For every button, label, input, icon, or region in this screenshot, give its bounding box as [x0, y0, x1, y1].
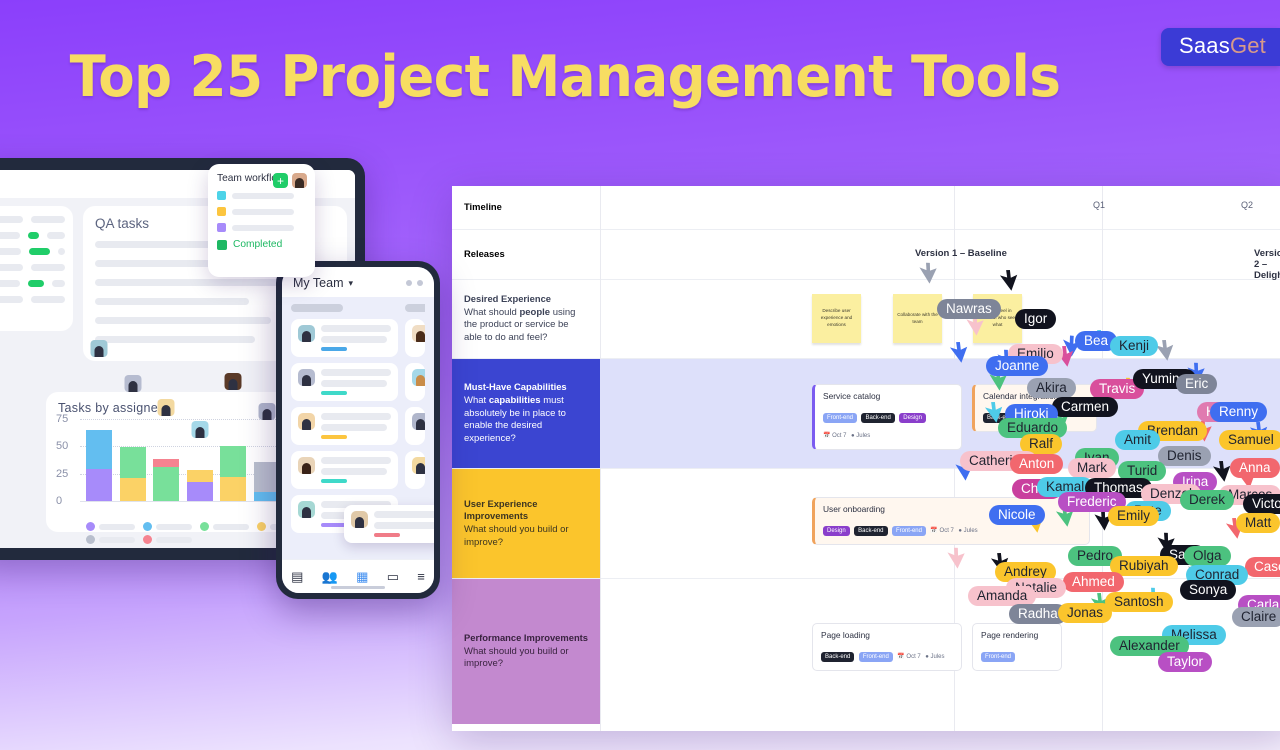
y-axis-tick: 75	[56, 413, 68, 425]
avatar	[351, 511, 368, 528]
member-progress	[374, 533, 400, 537]
y-axis-tick: 50	[56, 440, 68, 452]
task-meta: Design Back-end Front-end 📅 Oct 7 ● Jule…	[823, 519, 1081, 537]
completed-label: Completed	[233, 239, 282, 250]
legend-label	[99, 537, 135, 543]
avatar	[298, 501, 315, 518]
team-member-card[interactable]	[291, 363, 398, 401]
bar-segment	[187, 470, 213, 482]
avatar	[298, 413, 315, 430]
team-member-card[interactable]	[405, 407, 425, 445]
left-list-card	[0, 206, 73, 331]
member-sub-placeholder	[321, 380, 387, 387]
task-meta: Front-end	[981, 645, 1053, 663]
task-assignee[interactable]: ● Jules	[958, 528, 977, 534]
member-progress	[321, 347, 347, 351]
member-sub-placeholder	[321, 468, 387, 475]
team-overlay-card[interactable]	[344, 505, 434, 549]
task-tag[interactable]: Front-end	[823, 413, 857, 423]
team-member-card[interactable]	[291, 319, 398, 357]
my-team-title: My Team	[293, 276, 343, 290]
bar-column[interactable]	[153, 459, 179, 501]
bar-segment	[86, 430, 112, 469]
avatar	[158, 399, 175, 416]
legend-label	[213, 524, 249, 530]
board-row-user-experience-improvements: User Experience Improvements What should…	[452, 469, 1280, 579]
avatar	[412, 413, 425, 430]
legend-item[interactable]	[86, 535, 135, 544]
workflow-row[interactable]	[217, 207, 306, 216]
row-label-timeline: Timeline	[464, 201, 502, 214]
workflow-swatch	[217, 191, 226, 200]
member-name-placeholder	[374, 511, 434, 518]
task-due-date: 📅 Oct 7	[897, 653, 920, 660]
y-axis-tick: 25	[56, 468, 68, 480]
row-question-desired-experience: What should people using the product or …	[464, 307, 588, 345]
board-row-timeline: Timeline Q1 Q2	[452, 186, 1280, 230]
board-row-releases: Releases Version 1 – Baseline Version 2 …	[452, 230, 1280, 280]
team-member-card[interactable]	[405, 363, 425, 401]
task-tag[interactable]: Front-end	[859, 652, 893, 662]
bar-segment	[153, 467, 179, 501]
avatar	[412, 325, 425, 342]
folder-icon[interactable]: ▭	[387, 569, 399, 585]
avatar	[225, 373, 242, 390]
workflow-completed-row[interactable]: Completed	[217, 239, 306, 250]
workflow-placeholder	[232, 193, 294, 199]
board-row-performance-improvements: Performance Improvements What should you…	[452, 579, 1280, 724]
member-name-placeholder	[321, 457, 391, 464]
inbox-icon[interactable]: ▤	[291, 569, 303, 585]
legend-label	[156, 524, 192, 530]
board-row-must-have-capabilities: Must-Have Capabilities What capabilities…	[452, 359, 1280, 469]
menu-icon[interactable]: ≡	[417, 569, 425, 584]
bar-column[interactable]	[220, 446, 246, 501]
task-assignee[interactable]: ● Jules	[925, 654, 944, 660]
legend-swatch	[143, 535, 152, 544]
bar-segment	[120, 447, 146, 478]
legend-item[interactable]	[143, 535, 192, 544]
task-card[interactable]: Page loading Back-end Front-end 📅 Oct 7 …	[812, 623, 962, 671]
task-meta: Front-end Back-end Design 📅 Oct 7 ● Jule…	[823, 406, 953, 442]
legend-swatch	[257, 522, 266, 531]
legend-swatch	[86, 522, 95, 531]
team-member-card[interactable]	[291, 407, 398, 445]
brand-logo[interactable]: SaasGet	[1161, 28, 1280, 66]
plus-icon[interactable]: +	[273, 173, 288, 188]
avatar	[298, 325, 315, 342]
task-due-date: 📅 Oct 7	[1021, 414, 1044, 421]
team-member-card[interactable]	[344, 505, 434, 543]
avatar	[298, 457, 315, 474]
legend-swatch	[86, 535, 95, 544]
task-tag[interactable]: Front-end	[981, 652, 1015, 662]
brand-name-primary: Saas	[1179, 33, 1230, 58]
people-icon[interactable]: 👥	[322, 569, 338, 585]
avatar	[298, 369, 315, 386]
completed-swatch	[217, 240, 227, 250]
task-tag[interactable]: Design	[823, 526, 850, 536]
member-progress	[321, 479, 347, 483]
team-member-card[interactable]	[405, 319, 425, 357]
legend-label	[99, 524, 135, 530]
avatar	[412, 369, 425, 386]
home-indicator	[331, 586, 385, 589]
avatar	[258, 403, 275, 420]
legend-swatch	[143, 522, 152, 531]
chevron-down-icon[interactable]: ▾	[348, 278, 353, 289]
member-progress	[321, 391, 347, 395]
quarter-label-q2: Q2	[1241, 200, 1253, 210]
avatar	[191, 421, 208, 438]
team-list-left	[291, 319, 398, 533]
window-dot	[417, 280, 423, 286]
phone-mockup: My Team ▾ ▤👥▦▭≡	[276, 261, 440, 599]
member-progress	[321, 435, 347, 439]
avatar	[91, 340, 108, 357]
quarter-label-q1: Q1	[1093, 200, 1105, 210]
phone-screen: My Team ▾ ▤👥▦▭≡	[282, 267, 434, 593]
task-tag[interactable]: Back-end	[861, 413, 894, 423]
task-due-date: 📅 Oct 7	[930, 527, 953, 534]
task-tag[interactable]: Back-end	[854, 526, 887, 536]
release-label-v1: Version 1 – Baseline	[915, 248, 1007, 259]
member-name-placeholder	[321, 413, 391, 420]
task-title: Calendar integration	[983, 391, 1088, 401]
member-sub-placeholder	[374, 522, 434, 529]
sticky-note[interactable]: Collaborate with the team	[893, 294, 942, 343]
y-axis-tick: 0	[56, 495, 62, 507]
workflow-swatch	[217, 207, 226, 216]
row-title-user-experience-improvements: User Experience Improvements	[464, 498, 588, 523]
row-question-user-experience-improvements: What should you build or improve?	[464, 524, 588, 550]
task-card[interactable]: Service catalog Front-end Back-end Desig…	[812, 384, 962, 450]
bar-segment	[220, 477, 246, 501]
skeleton-rows	[0, 216, 65, 303]
board-row-desired-experience: Desired Experience What should people us…	[452, 280, 1280, 359]
task-tag[interactable]: Back-end	[983, 413, 1016, 423]
sticky-note[interactable]: Describe user experience and emotions	[812, 294, 861, 343]
release-label-v2: Version 2 – Delight	[1254, 248, 1280, 281]
avatar	[412, 457, 425, 474]
task-title: User onboarding	[823, 504, 1081, 514]
brand-name-accent: Get	[1230, 33, 1266, 58]
bar-segment	[220, 446, 246, 477]
bar-column[interactable]	[86, 430, 112, 501]
workflow-placeholder	[232, 225, 294, 231]
row-label-releases: Releases	[464, 248, 505, 261]
member-sub-placeholder	[321, 336, 387, 343]
task-title: Page rendering	[981, 630, 1053, 640]
task-meta: Back-end 📅 Oct 7	[983, 406, 1088, 424]
row-question-must-have-capabilities: What capabilities must absolutely be in …	[464, 395, 588, 446]
bar-segment	[153, 459, 179, 467]
bar-segment	[86, 469, 112, 501]
sticky-note[interactable]: Always feel in control of who sees what	[973, 294, 1022, 343]
task-tag[interactable]: Design	[899, 413, 926, 423]
workflow-row[interactable]	[217, 223, 306, 232]
task-title: Service catalog	[823, 391, 953, 401]
team-member-card[interactable]	[405, 451, 425, 489]
task-tag[interactable]: Front-end	[892, 526, 926, 536]
row-title-desired-experience: Desired Experience	[464, 293, 588, 306]
workflow-swatch	[217, 223, 226, 232]
roadmap-board: Timeline Q1 Q2 Releases Version 1 – Base…	[452, 186, 1280, 731]
member-name-placeholder	[321, 325, 391, 332]
task-meta: Back-end Front-end 📅 Oct 7 ● Jules	[821, 645, 953, 663]
avatar	[124, 375, 141, 392]
board-icon[interactable]: ▦	[356, 569, 368, 585]
team-member-card[interactable]	[291, 451, 398, 489]
legend-item[interactable]	[200, 522, 249, 531]
legend-item[interactable]	[143, 522, 192, 531]
row-title-must-have-capabilities: Must-Have Capabilities	[464, 381, 588, 394]
team-workflow-popover[interactable]: Team workflow + Completed	[208, 164, 315, 277]
bar-segment	[187, 482, 213, 501]
workflow-rows	[217, 191, 306, 232]
page-title: Top 25 Project Management Tools	[40, 44, 1091, 110]
row-title-performance-improvements: Performance Improvements	[464, 632, 588, 645]
task-due-date: 📅 Oct 7	[823, 432, 846, 439]
avatar[interactable]	[292, 173, 307, 188]
row-question-performance-improvements: What should you build or improve?	[464, 646, 588, 672]
task-title: Page loading	[821, 630, 953, 640]
workflow-placeholder	[232, 209, 294, 215]
task-tag[interactable]: Back-end	[821, 652, 854, 662]
legend-swatch	[200, 522, 209, 531]
legend-item[interactable]	[86, 522, 135, 531]
member-name-placeholder	[321, 369, 391, 376]
bar-segment	[120, 478, 146, 501]
team-list-right	[405, 319, 425, 489]
workflow-row[interactable]	[217, 191, 306, 200]
bar-column[interactable]	[187, 470, 213, 501]
task-card[interactable]: User onboarding Design Back-end Front-en…	[812, 497, 1090, 545]
task-card[interactable]: Calendar integration Back-end 📅 Oct 7	[972, 384, 1097, 432]
legend-label	[156, 537, 192, 543]
task-assignee[interactable]: ● Jules	[851, 433, 870, 439]
member-sub-placeholder	[321, 424, 387, 431]
bar-column[interactable]	[120, 447, 146, 501]
task-card[interactable]: Page rendering Front-end	[972, 623, 1062, 671]
window-dot	[406, 280, 412, 286]
